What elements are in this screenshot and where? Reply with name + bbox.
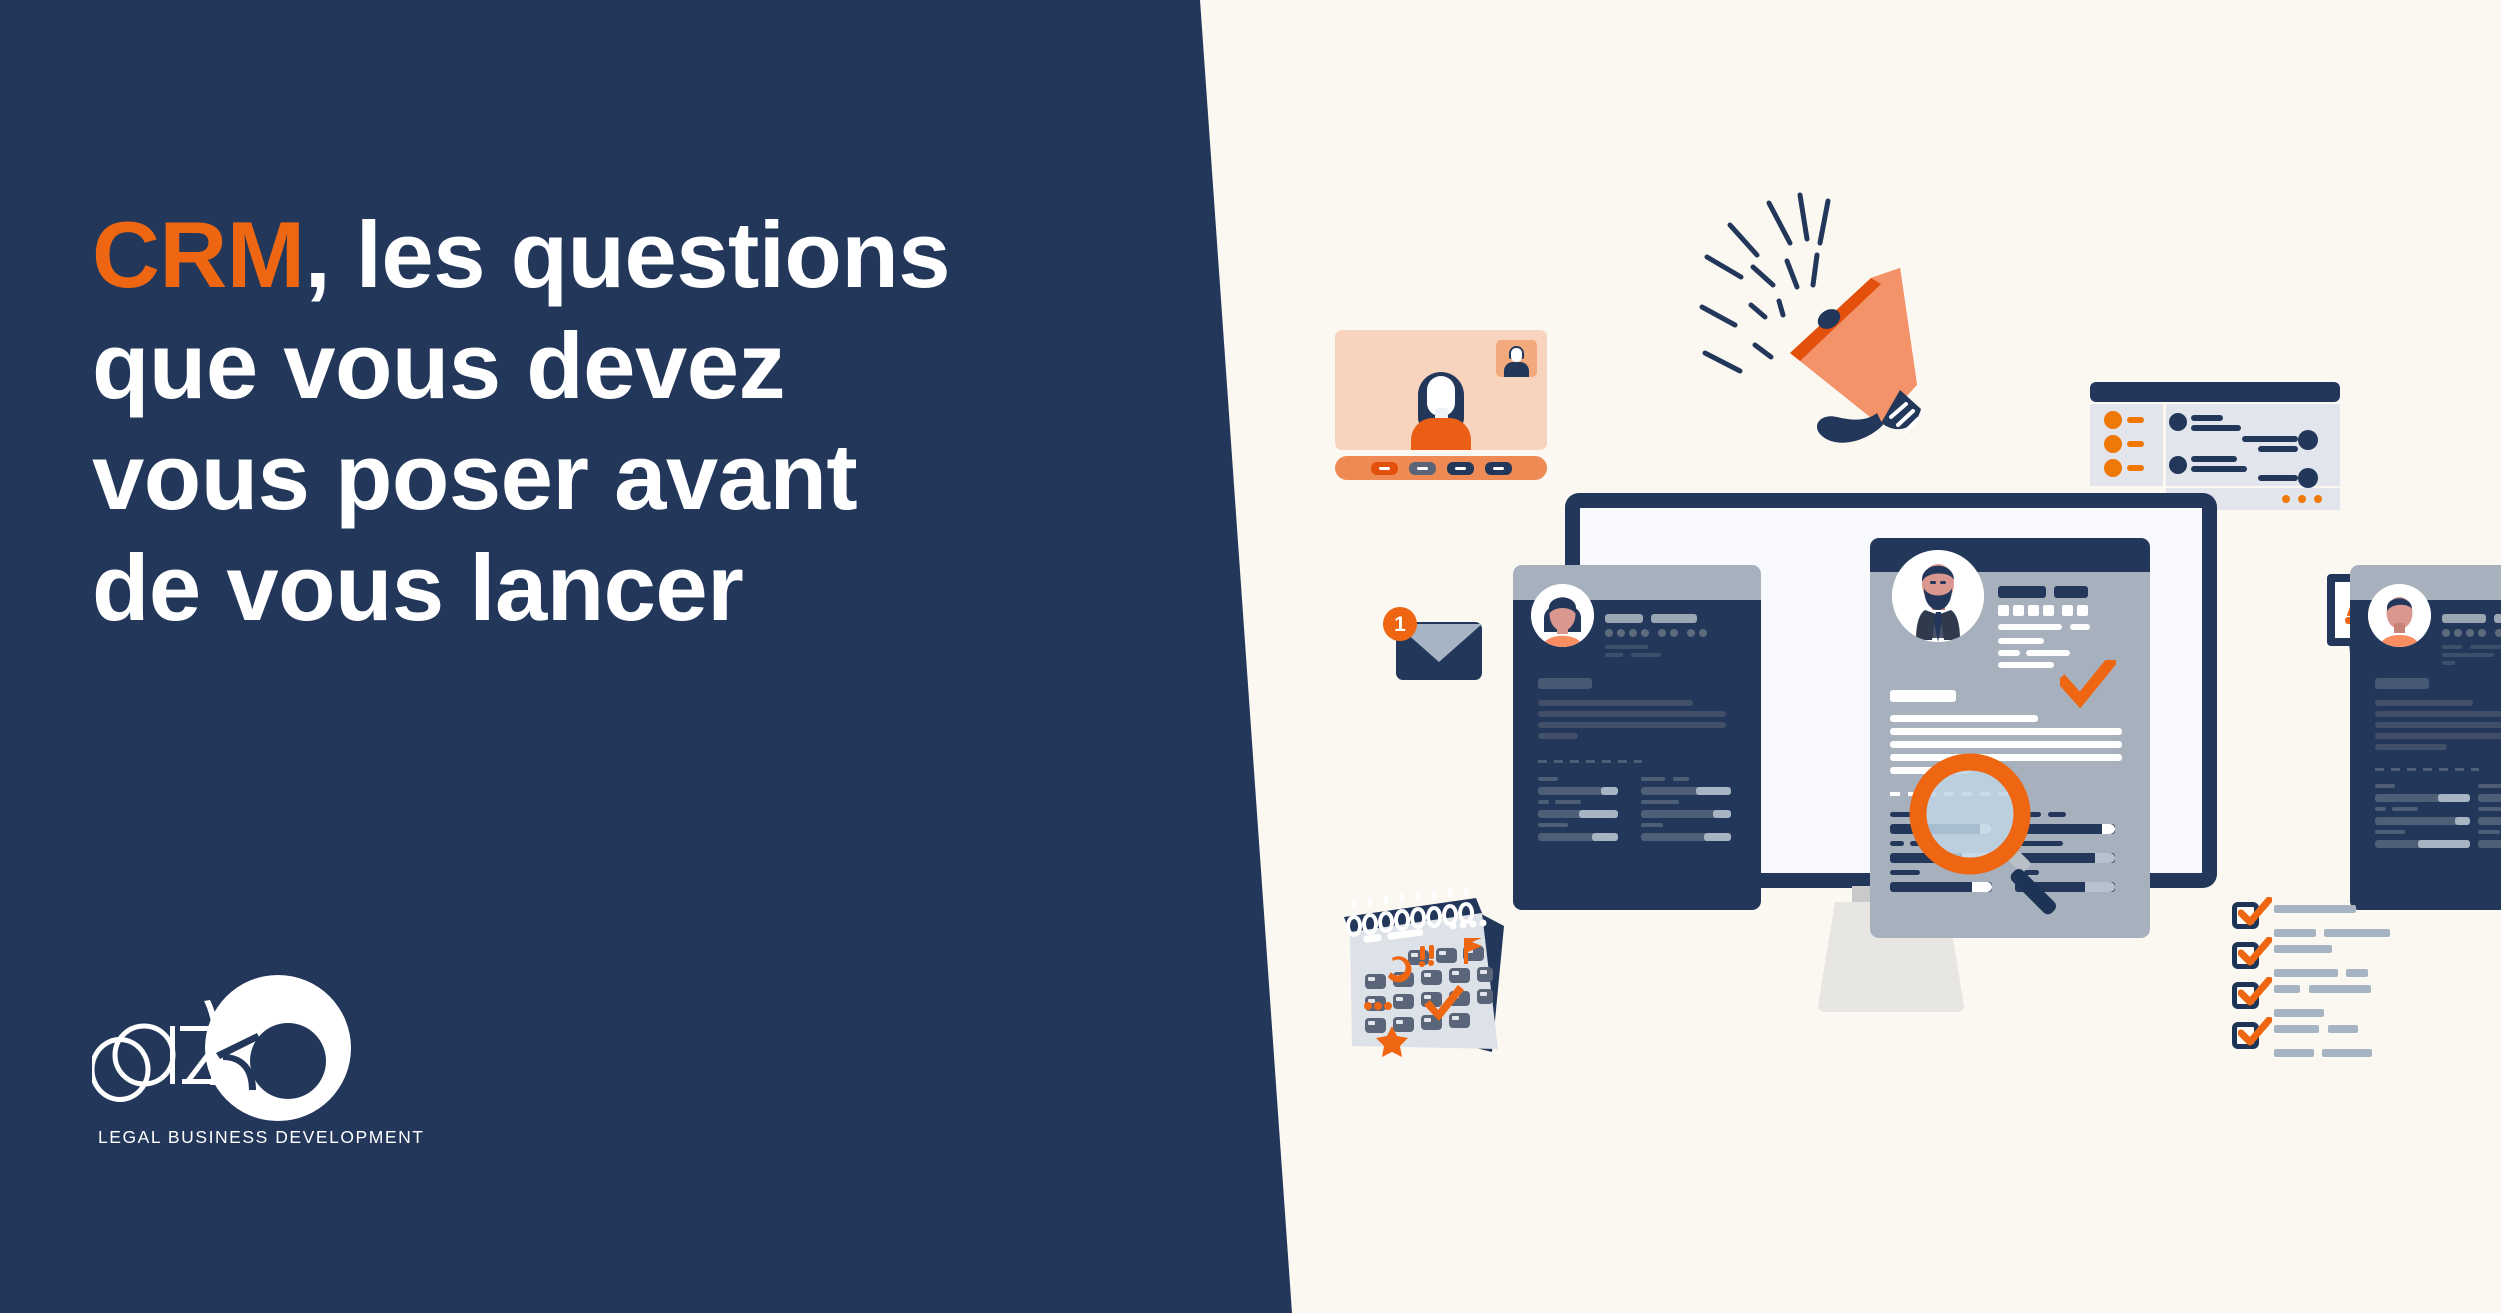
record-button[interactable] bbox=[1371, 462, 1398, 475]
poster-canvas: CRM, les questions que vous devez vous p… bbox=[0, 0, 2501, 1313]
chat-dots bbox=[2282, 495, 2322, 503]
envelope-badge-count: 1 bbox=[1394, 613, 1406, 636]
video-call-toolbar[interactable] bbox=[1335, 456, 1547, 480]
azko-logo: LEGAL BUSINESS DEVELOPMENT bbox=[92, 975, 432, 1185]
video-call-screen bbox=[1335, 330, 1547, 450]
headline-line-2: que vous devez bbox=[92, 311, 1152, 422]
checklist-item[interactable] bbox=[2232, 982, 2447, 1015]
logo-tagline: LEGAL BUSINESS DEVELOPMENT bbox=[98, 1127, 425, 1148]
video-pip bbox=[1496, 340, 1537, 377]
chat-sidebar bbox=[2090, 404, 2163, 486]
mute-button[interactable] bbox=[1409, 462, 1436, 475]
chat-panel-titlebar bbox=[2090, 382, 2340, 402]
page-title: CRM, les questions que vous devez vous p… bbox=[92, 200, 1152, 644]
checklist-item[interactable] bbox=[2232, 902, 2447, 935]
check-icon bbox=[2238, 1017, 2272, 1047]
check-icon bbox=[2238, 937, 2272, 967]
share-button[interactable] bbox=[1485, 462, 1512, 475]
magnifier-handle bbox=[2008, 867, 2058, 917]
profile-card-right[interactable] bbox=[2350, 565, 2501, 910]
check-icon bbox=[2238, 977, 2272, 1007]
card-body bbox=[1513, 600, 1761, 910]
logo-wordmark-azko bbox=[92, 975, 392, 1125]
checklist-text bbox=[2274, 945, 2368, 981]
card-body bbox=[2350, 600, 2501, 910]
card-header bbox=[2350, 565, 2501, 600]
desk-calendar bbox=[1332, 884, 1532, 1064]
checklist bbox=[2232, 902, 2447, 1062]
check-icon bbox=[2060, 660, 2116, 708]
participant-body bbox=[1411, 418, 1471, 450]
profile-card-left[interactable] bbox=[1513, 565, 1761, 910]
checklist-item[interactable] bbox=[2232, 942, 2447, 975]
magnifying-glass[interactable] bbox=[1908, 752, 2068, 917]
email-envelope: 1 bbox=[1382, 600, 1492, 688]
checklist-text bbox=[2274, 905, 2390, 941]
avatar-man-beard-suit bbox=[1892, 550, 1984, 642]
headline-line-1-rest: , les questions bbox=[305, 202, 950, 307]
headline-line-3: vous poser avant bbox=[92, 422, 1152, 533]
checklist-text bbox=[2274, 985, 2371, 1021]
camera-button[interactable] bbox=[1447, 462, 1474, 475]
headline-line-1: CRM, les questions bbox=[92, 200, 1152, 311]
avatar-woman bbox=[1531, 584, 1594, 647]
illustration: 1 bbox=[1310, 0, 2501, 1313]
checklist-text bbox=[2274, 1025, 2372, 1061]
pip-body bbox=[1504, 362, 1529, 377]
checklist-item[interactable] bbox=[2232, 1022, 2447, 1055]
video-call-card bbox=[1335, 330, 1547, 480]
megaphone-handle bbox=[1817, 413, 1883, 443]
headline-line-4: de vous lancer bbox=[92, 533, 1152, 644]
megaphone bbox=[1695, 185, 1965, 450]
check-icon bbox=[2238, 897, 2272, 927]
headline-accent-crm: CRM bbox=[92, 202, 305, 307]
avatar-man bbox=[2368, 584, 2431, 647]
logo-mark bbox=[92, 975, 392, 1123]
pip-face bbox=[1511, 348, 1522, 362]
